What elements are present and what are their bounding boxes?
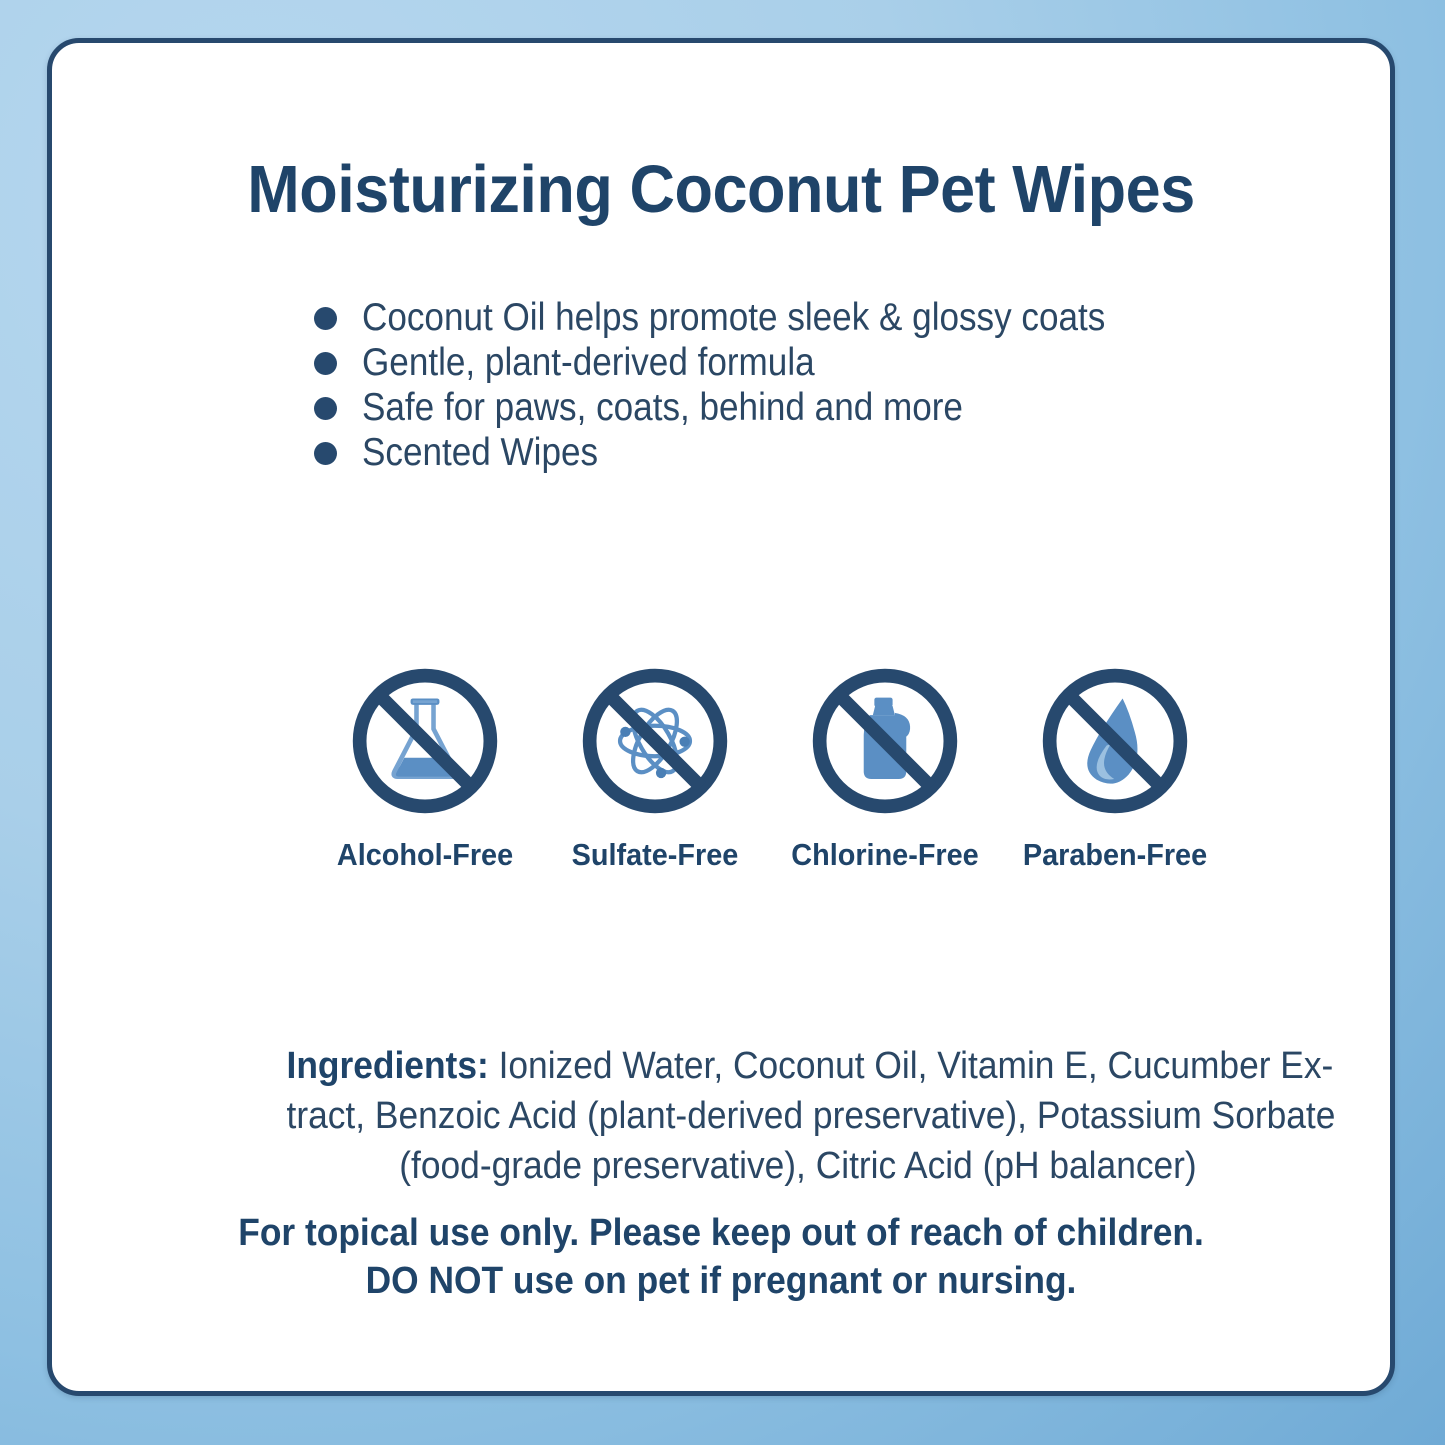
list-item: Safe for paws, coats, behind and more bbox=[314, 385, 1314, 430]
bullet-dot-icon bbox=[314, 397, 337, 420]
ingredients-text-1: Ionized Water, Coconut Oil, Vitamin E, C… bbox=[489, 1045, 1334, 1087]
no-jug-icon bbox=[809, 665, 961, 817]
bullet-dot-icon bbox=[314, 352, 337, 375]
ingredients-label: Ingredients: bbox=[287, 1045, 489, 1087]
badge-label: Alcohol-Free bbox=[318, 837, 532, 873]
infographic-page: Moisturizing Coconut Pet Wipes Coconut O… bbox=[0, 0, 1445, 1445]
free-from-badges: Alcohol-Free Sulfate-Free bbox=[310, 665, 1230, 873]
badge-label: Chlorine-Free bbox=[778, 837, 992, 873]
no-atom-icon bbox=[579, 665, 731, 817]
list-item: Coconut Oil helps promote sleek & glossy… bbox=[314, 295, 1314, 340]
benefit-text: Scented Wipes bbox=[362, 430, 598, 475]
badge-paraben-free: Paraben-Free bbox=[1000, 665, 1230, 873]
bullet-dot-icon bbox=[314, 307, 337, 330]
no-flask-icon bbox=[349, 665, 501, 817]
badge-chlorine-free: Chlorine-Free bbox=[770, 665, 1000, 873]
ingredients-line-1: Ingredients: Ionized Water, Coconut Oil,… bbox=[287, 1041, 1310, 1091]
list-item: Gentle, plant-derived formula bbox=[314, 340, 1314, 385]
product-info-card: Moisturizing Coconut Pet Wipes Coconut O… bbox=[47, 38, 1395, 1396]
list-item: Scented Wipes bbox=[314, 430, 1314, 475]
bullet-dot-icon bbox=[314, 442, 337, 465]
warning-block: For topical use only. Please keep out of… bbox=[99, 1209, 1343, 1305]
ingredients-line-3: (food-grade preservative), Citric Acid (… bbox=[287, 1141, 1310, 1191]
ingredients-block: Ingredients: Ionized Water, Coconut Oil,… bbox=[287, 1041, 1310, 1191]
benefits-list: Coconut Oil helps promote sleek & glossy… bbox=[314, 295, 1314, 475]
badge-label: Paraben-Free bbox=[1008, 837, 1222, 873]
warning-line-1: For topical use only. Please keep out of… bbox=[99, 1209, 1343, 1257]
benefit-text: Gentle, plant-derived formula bbox=[362, 340, 815, 385]
benefit-text: Coconut Oil helps promote sleek & glossy… bbox=[362, 295, 1105, 340]
badge-label: Sulfate-Free bbox=[548, 837, 762, 873]
page-title: Moisturizing Coconut Pet Wipes bbox=[92, 151, 1350, 228]
no-droplet-icon bbox=[1039, 665, 1191, 817]
badge-sulfate-free: Sulfate-Free bbox=[540, 665, 770, 873]
benefit-text: Safe for paws, coats, behind and more bbox=[362, 385, 963, 430]
warning-line-2: DO NOT use on pet if pregnant or nursing… bbox=[99, 1257, 1343, 1305]
badge-alcohol-free: Alcohol-Free bbox=[310, 665, 540, 873]
ingredients-line-2: tract, Benzoic Acid (plant-derived prese… bbox=[287, 1091, 1310, 1141]
